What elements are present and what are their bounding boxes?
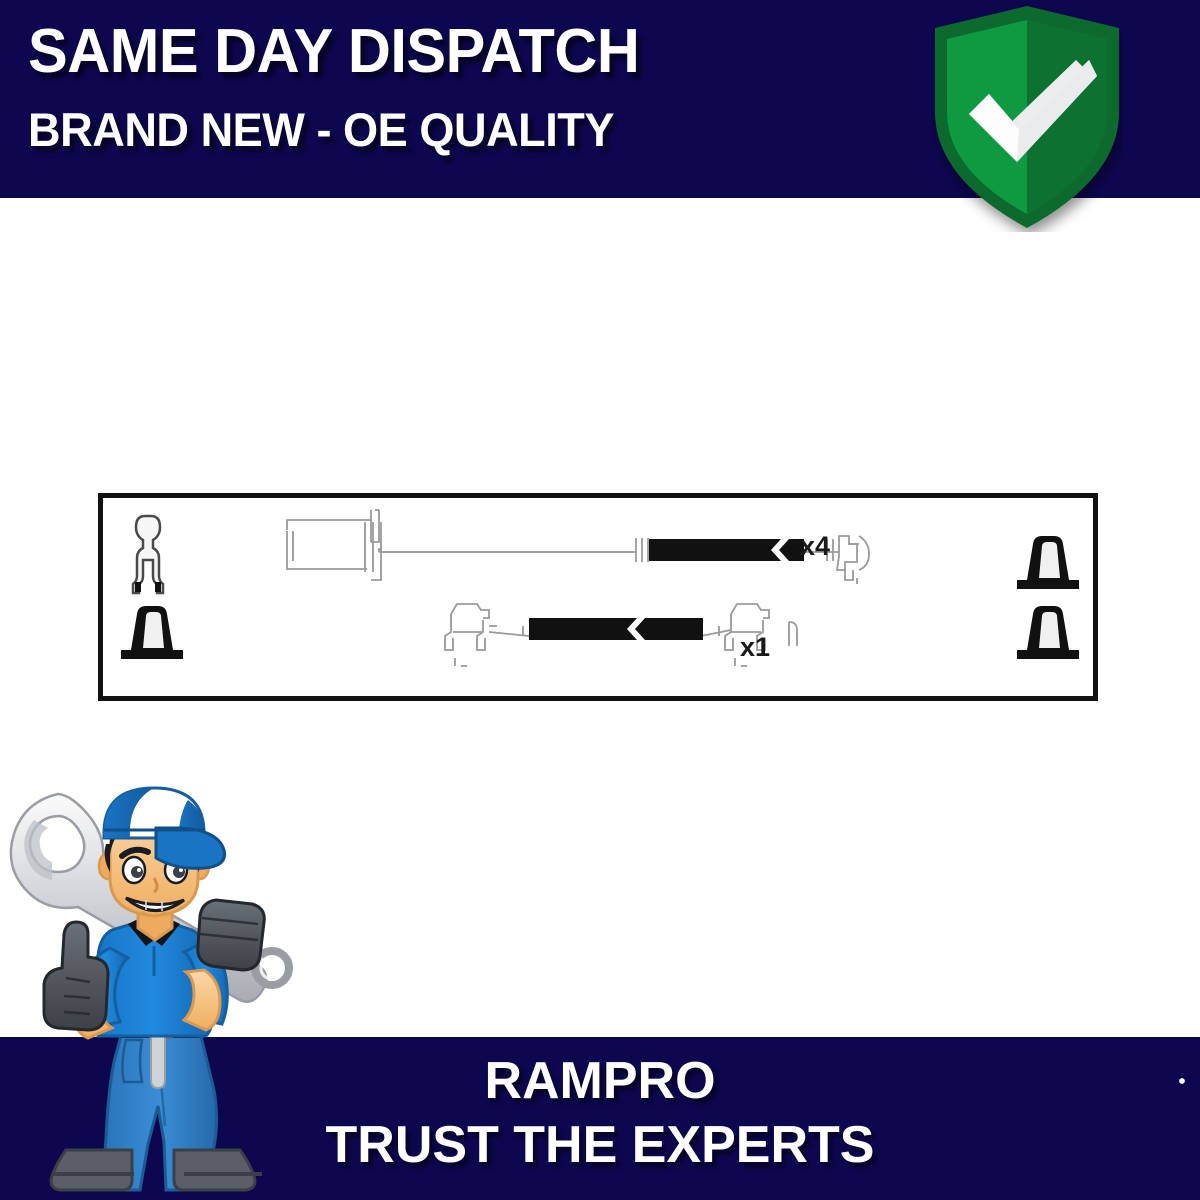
quantity-label-lead-long: x4 [800, 531, 830, 562]
promo-headline-primary: SAME DAY DISPATCH [28, 16, 639, 88]
gear-icon [1171, 1070, 1193, 1092]
ignition-boot-icon [1017, 606, 1079, 659]
product-diagram-box [98, 493, 1098, 701]
shoes [51, 1150, 262, 1190]
ignition-lead-set-diagram [103, 498, 1093, 696]
right-glove-icon [198, 900, 264, 970]
ignition-boot-icon [121, 606, 183, 659]
brand-name: RAMPRO [484, 1052, 715, 1110]
mechanic-mascot [4, 782, 304, 1200]
thumbs-up-glove-icon [44, 922, 108, 1030]
promo-headline-secondary: BRAND NEW - OE QUALITY [28, 102, 614, 158]
quantity-label-lead-short: x1 [740, 632, 770, 663]
shield-check-icon [931, 2, 1123, 232]
ignition-lead-long [287, 510, 869, 584]
spark-plug-connector-icon [133, 516, 163, 593]
ignition-boot-icon [1017, 536, 1079, 589]
